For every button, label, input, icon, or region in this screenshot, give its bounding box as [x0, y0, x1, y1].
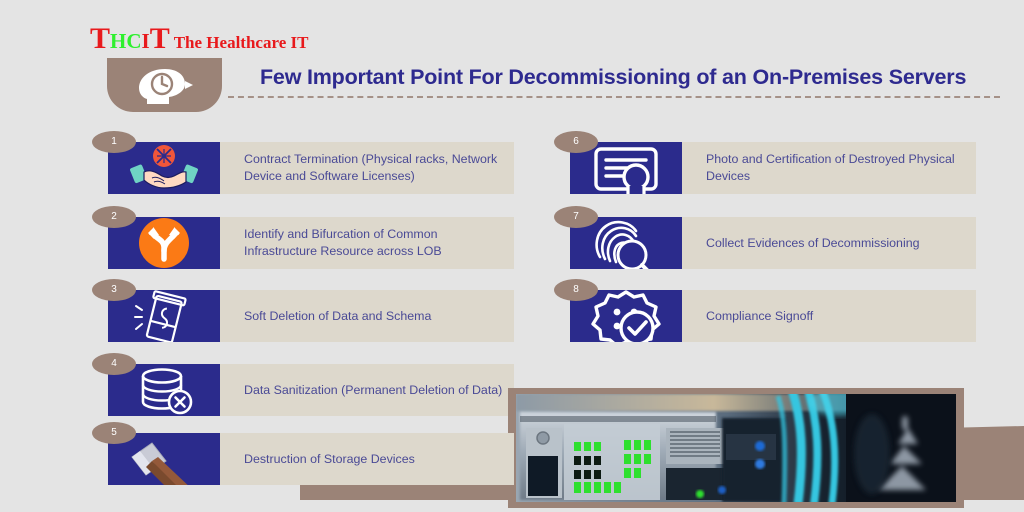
item-number-badge: 3: [92, 279, 136, 301]
item-label: Soft Deletion of Data and Schema: [244, 290, 439, 342]
server-rack-image: [516, 394, 956, 502]
list-item[interactable]: 4 Data Sanitization (Permanent Deletion …: [108, 364, 514, 416]
item-number-badge: 8: [554, 279, 598, 301]
item-number-badge: 6: [554, 131, 598, 153]
brand-letter-i: I: [142, 29, 150, 53]
item-label: Collect Evidences of Decommissioning: [706, 217, 927, 269]
item-label: Data Sanitization (Permanent Deletion of…: [244, 364, 510, 416]
server-rack-photo: [516, 394, 956, 502]
item-label: Identify and Bifurcation of Common Infra…: [244, 217, 514, 269]
item-number-badge: 4: [92, 353, 136, 375]
brand-name: The Healthcare IT: [174, 33, 309, 52]
item-label: Compliance Signoff: [706, 290, 821, 342]
page-title: Few Important Point For Decommissioning …: [260, 66, 1000, 90]
header-divider: [228, 96, 1000, 98]
brand-letter-hc: HC: [110, 29, 142, 53]
head-clock-icon: [135, 67, 195, 105]
item-label: Photo and Certification of Destroyed Phy…: [706, 142, 976, 194]
infographic-canvas: THCITThe Healthcare IT Few Important Poi…: [0, 0, 1024, 512]
brand-letter-t1: T: [90, 22, 110, 55]
item-label: Contract Termination (Physical racks, Ne…: [244, 142, 514, 194]
list-item[interactable]: 1 Contract Termination (Physical racks, …: [108, 142, 514, 194]
item-number-badge: 1: [92, 131, 136, 153]
brand-logo: THCITThe Healthcare IT: [90, 24, 308, 54]
item-number-badge: 5: [92, 422, 136, 444]
item-number-badge: 7: [554, 206, 598, 228]
list-item[interactable]: 8 Compliance Signoff: [570, 290, 976, 342]
item-label: Destruction of Storage Devices: [244, 433, 423, 485]
list-item[interactable]: 5 Destruction of Storage Devices: [108, 433, 514, 485]
list-item[interactable]: 6 Photo and Certification of Destroyed P…: [570, 142, 976, 194]
list-item[interactable]: 3 Soft Deletion of Data and Schema: [108, 290, 514, 342]
list-item[interactable]: 2 Identify and Bifurcation of Common Inf…: [108, 217, 514, 269]
list-item[interactable]: 7 Collect Evidences of Decommissioning: [570, 217, 976, 269]
item-number-badge: 2: [92, 206, 136, 228]
brand-letter-t2: T: [150, 22, 170, 55]
header-badge: [107, 58, 222, 112]
